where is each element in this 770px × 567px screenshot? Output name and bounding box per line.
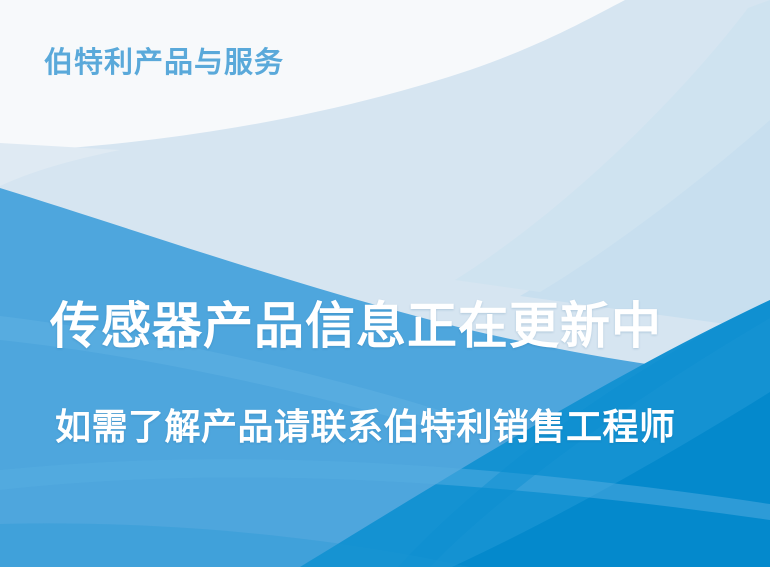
headline-text: 传感器产品信息正在更新中	[50, 299, 662, 353]
subheadline-text: 如需了解产品请联系伯特利销售工程师	[55, 408, 676, 447]
banner-text-layer: 伯特利产品与服务 传感器产品信息正在更新中 如需了解产品请联系伯特利销售工程师	[0, 0, 770, 567]
product-service-banner: 伯特利产品与服务 传感器产品信息正在更新中 如需了解产品请联系伯特利销售工程师	[0, 0, 770, 567]
brand-title: 伯特利产品与服务	[44, 48, 284, 80]
